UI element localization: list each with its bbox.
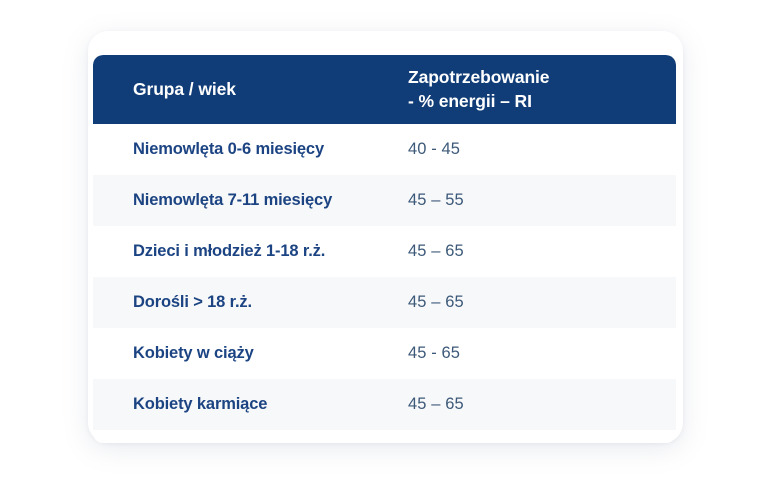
- cell-group: Niemowlęta 0-6 miesięcy: [93, 140, 408, 159]
- table-row: Kobiety karmiące 45 – 65: [93, 379, 676, 430]
- table-row: Niemowlęta 7-11 miesięcy 45 – 55: [93, 175, 676, 226]
- data-table: Grupa / wiek Zapotrzebowanie - % energii…: [93, 55, 676, 443]
- table-header-row: Grupa / wiek Zapotrzebowanie - % energii…: [93, 55, 676, 124]
- cell-demand: 45 - 65: [408, 344, 676, 363]
- table-body: Niemowlęta 0-6 miesięcy 40 - 45 Niemowlę…: [93, 124, 676, 430]
- table-row: Kobiety w ciąży 45 - 65: [93, 328, 676, 379]
- cell-demand: 45 – 65: [408, 242, 676, 261]
- cell-demand: 40 - 45: [408, 140, 676, 159]
- cell-group: Niemowlęta 7-11 miesięcy: [93, 191, 408, 210]
- page-root: Grupa / wiek Zapotrzebowanie - % energii…: [0, 0, 768, 501]
- column-header-group: Grupa / wiek: [93, 78, 408, 101]
- table-row: Dorośli > 18 r.ż. 45 – 65: [93, 277, 676, 328]
- table-card: Grupa / wiek Zapotrzebowanie - % energii…: [88, 31, 683, 443]
- cell-demand: 45 – 55: [408, 191, 676, 210]
- cell-group: Dorośli > 18 r.ż.: [93, 293, 408, 312]
- column-header-demand-line2: - % energii – RI: [408, 90, 676, 113]
- table-row: Niemowlęta 0-6 miesięcy 40 - 45: [93, 124, 676, 175]
- cell-group: Kobiety w ciąży: [93, 344, 408, 363]
- table-row: Dzieci i młodzież 1-18 r.ż. 45 – 65: [93, 226, 676, 277]
- cell-demand: 45 – 65: [408, 395, 676, 414]
- cell-group: Kobiety karmiące: [93, 395, 408, 414]
- column-header-demand-line1: Zapotrzebowanie: [408, 66, 676, 89]
- table-bottom-padding: [93, 430, 676, 443]
- column-header-demand: Zapotrzebowanie - % energii – RI: [408, 66, 676, 112]
- cell-demand: 45 – 65: [408, 293, 676, 312]
- cell-group: Dzieci i młodzież 1-18 r.ż.: [93, 242, 408, 261]
